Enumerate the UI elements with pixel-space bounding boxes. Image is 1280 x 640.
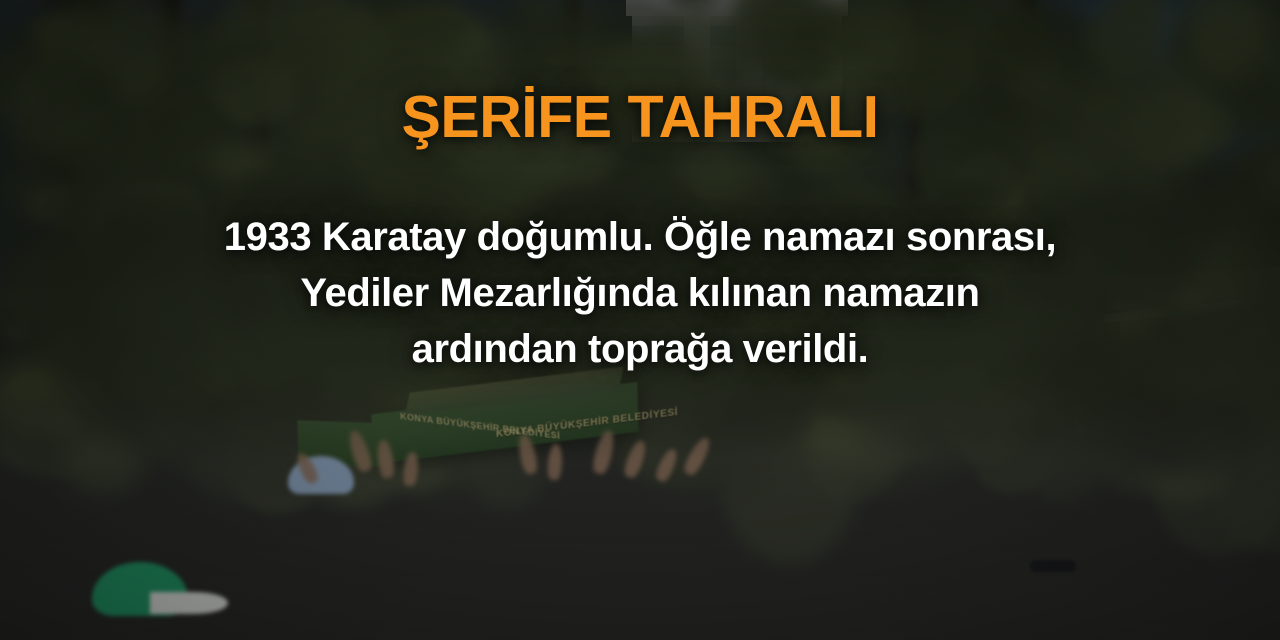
page-title: ŞERİFE TAHRALI [401, 88, 878, 147]
text-overlay: ŞERİFE TAHRALI 1933 Karatay doğumlu. Öğl… [0, 0, 1280, 640]
description-line-3: ardından toprağa verildi. [165, 321, 1115, 377]
description-line-1: 1933 Karatay doğumlu. Öğle namazı sonras… [165, 209, 1115, 265]
obituary-description: 1933 Karatay doğumlu. Öğle namazı sonras… [165, 209, 1115, 377]
obituary-card: KONYA BÜYÜKŞEHİR BELEDİYESİ KONYA BÜYÜKŞ… [0, 0, 1280, 640]
description-line-2: Yediler Mezarlığında kılınan namazın [165, 265, 1115, 321]
